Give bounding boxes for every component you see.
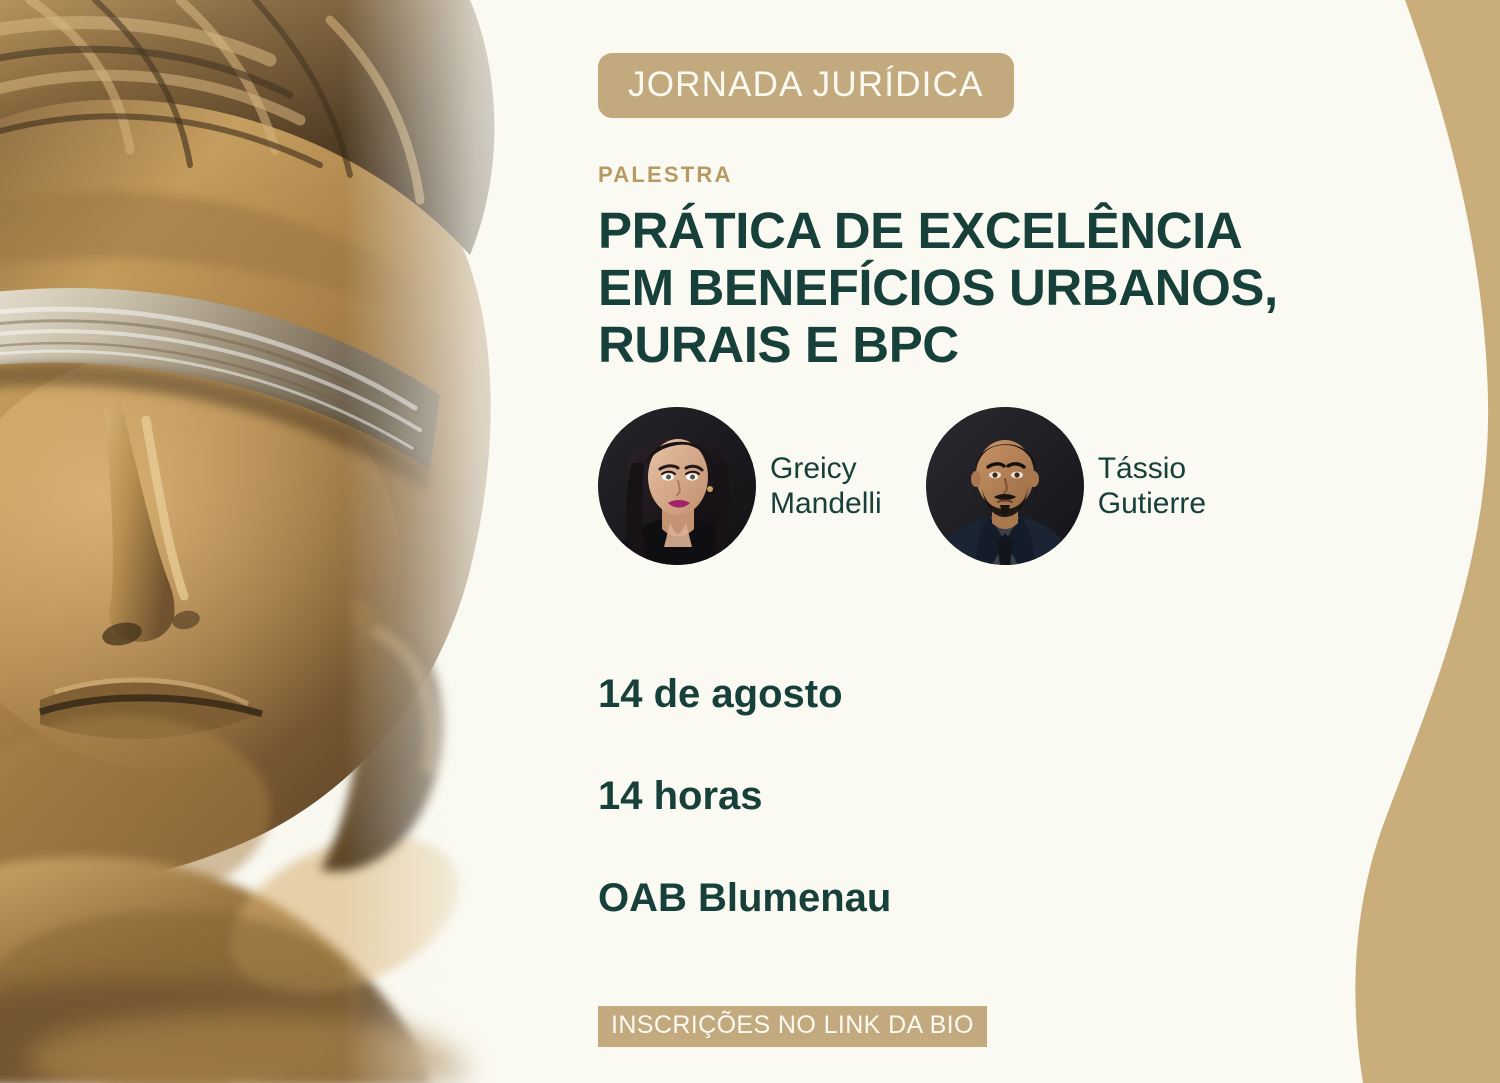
title-line-3: RURAIS E BPC — [598, 316, 959, 373]
session-type-label: PALESTRA — [598, 162, 1388, 188]
event-poster: JORNADA JURÍDICA PALESTRA PRÁTICA DE EXC… — [0, 0, 1500, 1083]
speaker-tassio-gutierre: Tássio Gutierre — [926, 407, 1206, 565]
avatar — [598, 407, 756, 565]
avatar — [926, 407, 1084, 565]
event-venue: OAB Blumenau — [598, 873, 1388, 924]
poster-content: JORNADA JURÍDICA PALESTRA PRÁTICA DE EXC… — [598, 0, 1388, 1083]
title-line-2: EM BENEFÍCIOS URBANOS, — [598, 259, 1278, 316]
event-time: 14 horas — [598, 771, 1388, 822]
page-title: PRÁTICA DE EXCELÊNCIA EM BENEFÍCIOS URBA… — [598, 202, 1358, 373]
speaker-list: Greicy Mandelli — [598, 407, 1388, 565]
speaker-name: Tássio Gutierre — [1098, 451, 1206, 522]
event-details: 14 de agosto 14 horas OAB Blumenau — [598, 617, 1388, 975]
lady-justice-photo — [0, 0, 660, 1083]
event-date: 14 de agosto — [598, 669, 1388, 720]
speaker-greicy-mandelli: Greicy Mandelli — [598, 407, 882, 565]
registration-cta[interactable]: INSCRIÇÕES NO LINK DA BIO — [598, 1006, 987, 1048]
event-series-badge: JORNADA JURÍDICA — [598, 53, 1014, 118]
title-line-1: PRÁTICA DE EXCELÊNCIA — [598, 202, 1242, 259]
speaker-name: Greicy Mandelli — [770, 451, 882, 522]
